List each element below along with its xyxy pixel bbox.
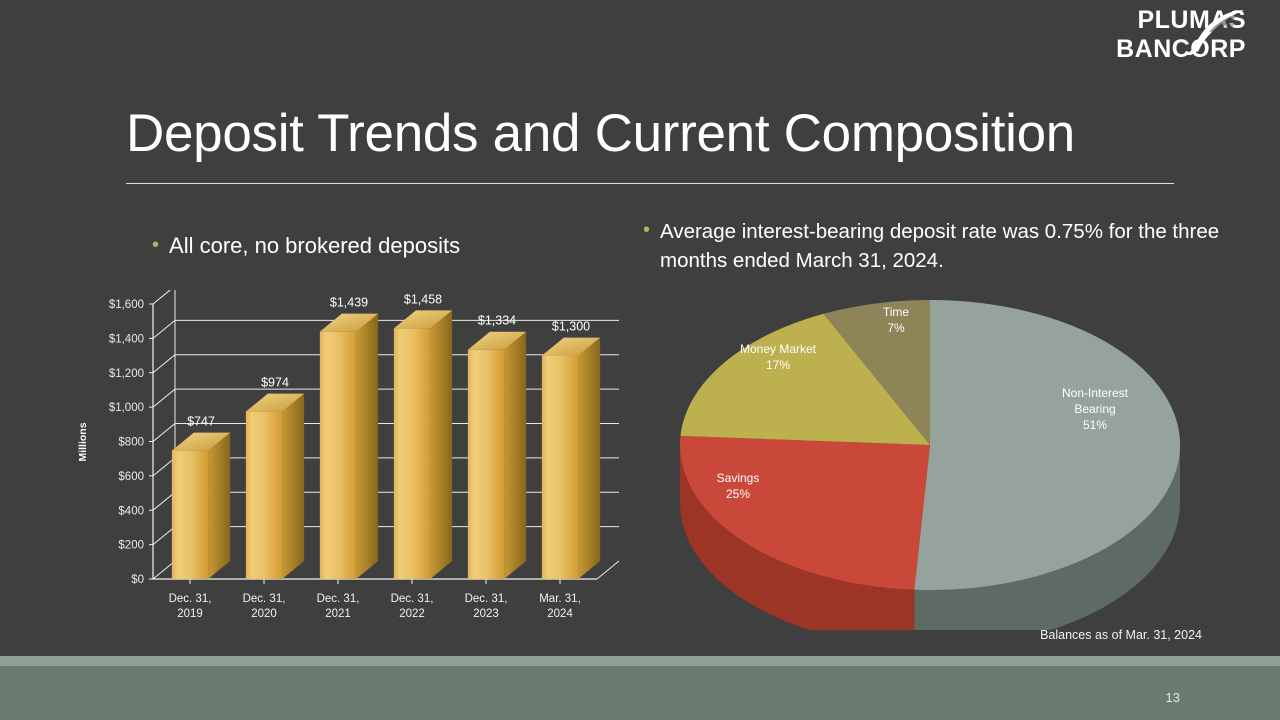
x-tick-label: Mar. 31, [539,593,581,605]
chart-footnote: Balances as of Mar. 31, 2024 [1040,628,1202,642]
bullet-right-text: Average interest-bearing deposit rate wa… [660,217,1249,275]
pie-slice-label: Bearing [1074,402,1115,416]
x-tick-label: 2021 [325,608,351,620]
footer-band [0,666,1280,720]
pie-slice-label: 25% [726,487,750,501]
x-tick-label: 2019 [177,608,203,620]
pie-slice-label: 51% [1083,418,1107,432]
deposit-composition-pie-chart: Non-InterestBearing51%Savings25%Money Ma… [640,285,1220,630]
x-tick-label: Dec. 31, [391,593,434,605]
footer-accent-strip [0,656,1280,666]
x-tick-label: Dec. 31, [317,593,360,605]
x-tick-label: Dec. 31, [465,593,508,605]
bar-chart-value-labels: $747$974$1,439$1,458$1,334$1,300 [187,292,590,428]
title-divider [126,183,1174,184]
pie-slice-label: Savings [717,471,760,485]
bar-value-label: $1,458 [404,292,442,306]
deposit-trend-bar-chart: $0$200$400$600$800$1,000$1,200$1,400$1,6… [60,290,620,630]
page-title: Deposit Trends and Current Composition [126,103,1075,164]
y-tick-label: $400 [118,505,144,517]
bar-value-label: $1,300 [552,320,590,334]
x-tick-label: 2022 [399,608,425,620]
bullet-dot-icon: • [152,232,159,258]
bullet-right: • Average interest-bearing deposit rate … [643,217,1249,275]
bullet-left: • All core, no brokered deposits [152,232,572,260]
pie-slice-label: Time [883,305,910,319]
y-tick-label: $0 [131,574,144,586]
x-tick-label: 2023 [473,608,499,620]
bar-chart-y-tick-labels: $0$200$400$600$800$1,000$1,200$1,400$1,6… [109,299,144,586]
pie-slice-label: 7% [887,321,905,335]
bar-chart-x-tick-labels: Dec. 31,2019Dec. 31,2020Dec. 31,2021Dec.… [169,593,581,620]
pie-slice-label: Money Market [740,342,817,356]
bullet-dot-icon: • [643,217,650,243]
y-tick-label: $1,000 [109,402,144,414]
pie-slice-label: 17% [766,358,790,372]
y-tick-label: $1,400 [109,333,144,345]
page-number: 13 [1166,690,1180,705]
pie-slice-label: Non-Interest [1062,386,1129,400]
y-tick-label: $1,200 [109,368,144,380]
x-tick-label: 2024 [547,608,573,620]
slide-root: PLUMAS BANCORP Deposit Trends and Curren… [0,0,1280,720]
logo-line-1: PLUMAS [1116,6,1246,35]
y-tick-label: $200 [118,540,144,552]
bullet-left-text: All core, no brokered deposits [169,232,460,260]
x-tick-label: Dec. 31, [243,593,286,605]
y-axis-title: Millions [77,422,89,461]
bar-chart-bars [172,310,600,579]
bar-chart-axis-title: Millions [77,422,89,461]
x-tick-label: 2020 [251,608,277,620]
bar-value-label: $974 [261,376,289,390]
logo-line-2: BANCORP [1116,35,1246,64]
bar-value-label: $1,334 [478,314,516,328]
x-tick-label: Dec. 31, [169,593,212,605]
y-tick-label: $800 [118,437,144,449]
company-logo: PLUMAS BANCORP [1116,6,1246,64]
y-tick-label: $600 [118,471,144,483]
bar-value-label: $1,439 [330,296,368,310]
y-tick-label: $1,600 [109,299,144,311]
bar-value-label: $747 [187,415,215,429]
